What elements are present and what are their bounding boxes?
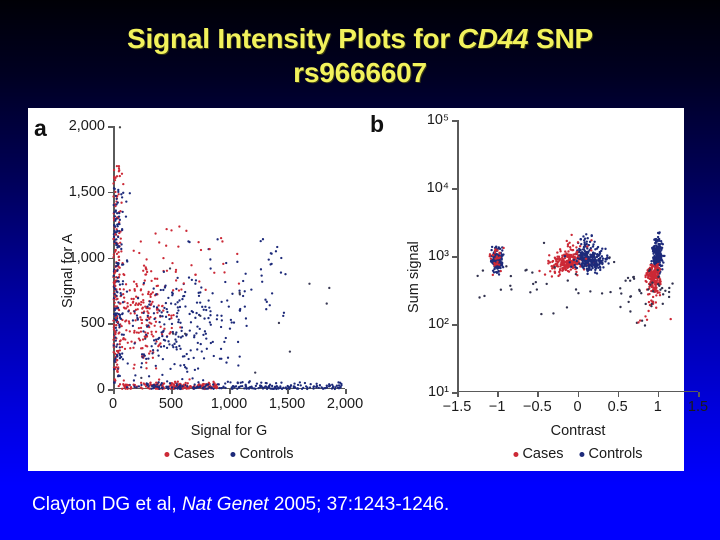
panel-a: a 05001,0001,5002,00005001,0001,5002,000… (28, 108, 368, 471)
panel-a-legend-controls-label: Controls (240, 446, 294, 462)
controls-color-dot-icon (580, 452, 585, 457)
cases-color-dot-icon (513, 452, 518, 457)
panel-b: b −1.5−1−0.500.511.510¹10²10³10⁴10⁵ Cont… (368, 108, 684, 471)
y-tick-mark (452, 256, 457, 258)
panel-a-legend-cases-label: Cases (173, 446, 214, 462)
panel-b-legend-cases-label: Cases (522, 446, 563, 462)
panel-b-x-axis-title: Contrast (551, 423, 606, 439)
y-tick-mark (108, 389, 113, 391)
panel-a-plot-area: 05001,0001,5002,00005001,0001,5002,000 (113, 126, 345, 389)
title-text-pre: Signal Intensity Plots for (127, 23, 458, 54)
y-tick-label: 10³ (428, 248, 449, 264)
panel-b-plot-area: −1.5−1−0.500.511.510¹10²10³10⁴10⁵ (457, 120, 698, 392)
y-tick-label: 500 (81, 315, 105, 331)
controls-color-dot-icon (231, 452, 236, 457)
y-tick-mark (108, 192, 113, 194)
x-tick-label: 2,000 (327, 396, 363, 412)
x-tick-mark (345, 389, 347, 394)
x-tick-mark (113, 389, 115, 394)
figure-image: a 05001,0001,5002,00005001,0001,5002,000… (28, 108, 684, 471)
panel-a-letter: a (34, 117, 47, 140)
panel-a-y-axis-title: Signal for A (60, 234, 76, 308)
x-tick-label: 500 (159, 396, 183, 412)
x-tick-mark (658, 392, 660, 397)
y-tick-label: 10¹ (428, 384, 449, 400)
panel-b-letter: b (370, 113, 384, 136)
panel-b-legend-cases: Cases (513, 446, 563, 462)
x-tick-label: 0.5 (608, 399, 628, 415)
x-tick-mark (497, 392, 499, 397)
x-tick-label: −1.5 (443, 399, 472, 415)
y-tick-label: 10² (428, 316, 449, 332)
y-tick-label: 0 (97, 381, 105, 397)
panel-a-legend-controls: Controls (231, 446, 294, 462)
x-tick-mark (287, 389, 289, 394)
y-tick-mark (452, 188, 457, 190)
x-tick-label: 0 (573, 399, 581, 415)
slide: Signal Intensity Plots for CD44 SNP rs96… (0, 0, 720, 540)
x-tick-label: −1 (489, 399, 506, 415)
x-tick-mark (537, 392, 539, 397)
y-tick-mark (452, 120, 457, 122)
x-tick-label: 1 (654, 399, 662, 415)
panel-b-y-axis-title: Sum signal (406, 241, 422, 313)
panel-b-legend-controls-label: Controls (589, 446, 643, 462)
x-tick-mark (578, 392, 580, 397)
x-tick-mark (171, 389, 173, 394)
panel-a-legend-cases: Cases (164, 446, 214, 462)
x-tick-mark (618, 392, 620, 397)
y-tick-mark (452, 324, 457, 326)
x-tick-label: 1,500 (269, 396, 305, 412)
title-line-1: Signal Intensity Plots for CD44 SNP (0, 22, 720, 56)
y-tick-mark (108, 258, 113, 260)
y-tick-mark (108, 323, 113, 325)
citation: Clayton DG et al, Nat Genet 2005; 37:124… (32, 494, 449, 516)
panel-a-x-axis-title: Signal for G (191, 423, 268, 439)
citation-journal: Nat Genet (182, 494, 269, 515)
title-text-post: SNP (528, 23, 593, 54)
x-tick-label: 0 (109, 396, 117, 412)
x-tick-mark (457, 392, 459, 397)
y-tick-label: 10⁴ (427, 180, 449, 196)
title-gene-name: CD44 (458, 23, 529, 54)
panel-a-legend: Cases Controls (164, 446, 293, 462)
y-tick-label: 2,000 (69, 118, 105, 134)
panel-b-scatter-points (457, 120, 698, 392)
y-tick-mark (108, 126, 113, 128)
y-tick-label: 1,500 (69, 184, 105, 200)
panel-b-legend-controls: Controls (580, 446, 643, 462)
y-tick-mark (452, 392, 457, 394)
x-tick-label: −0.5 (523, 399, 552, 415)
panel-a-scatter-points (113, 126, 345, 389)
y-tick-label: 10⁵ (427, 112, 449, 128)
panel-b-legend: Cases Controls (513, 446, 642, 462)
cases-color-dot-icon (164, 452, 169, 457)
x-tick-mark (229, 389, 231, 394)
citation-details: 2005; 37:1243-1246. (269, 494, 450, 515)
page-title: Signal Intensity Plots for CD44 SNP rs96… (0, 22, 720, 90)
citation-authors: Clayton DG et al, (32, 494, 182, 515)
x-tick-mark (698, 392, 700, 397)
x-tick-label: 1.5 (688, 399, 708, 415)
title-line-2: rs9666607 (0, 56, 720, 90)
x-tick-label: 1,000 (211, 396, 247, 412)
